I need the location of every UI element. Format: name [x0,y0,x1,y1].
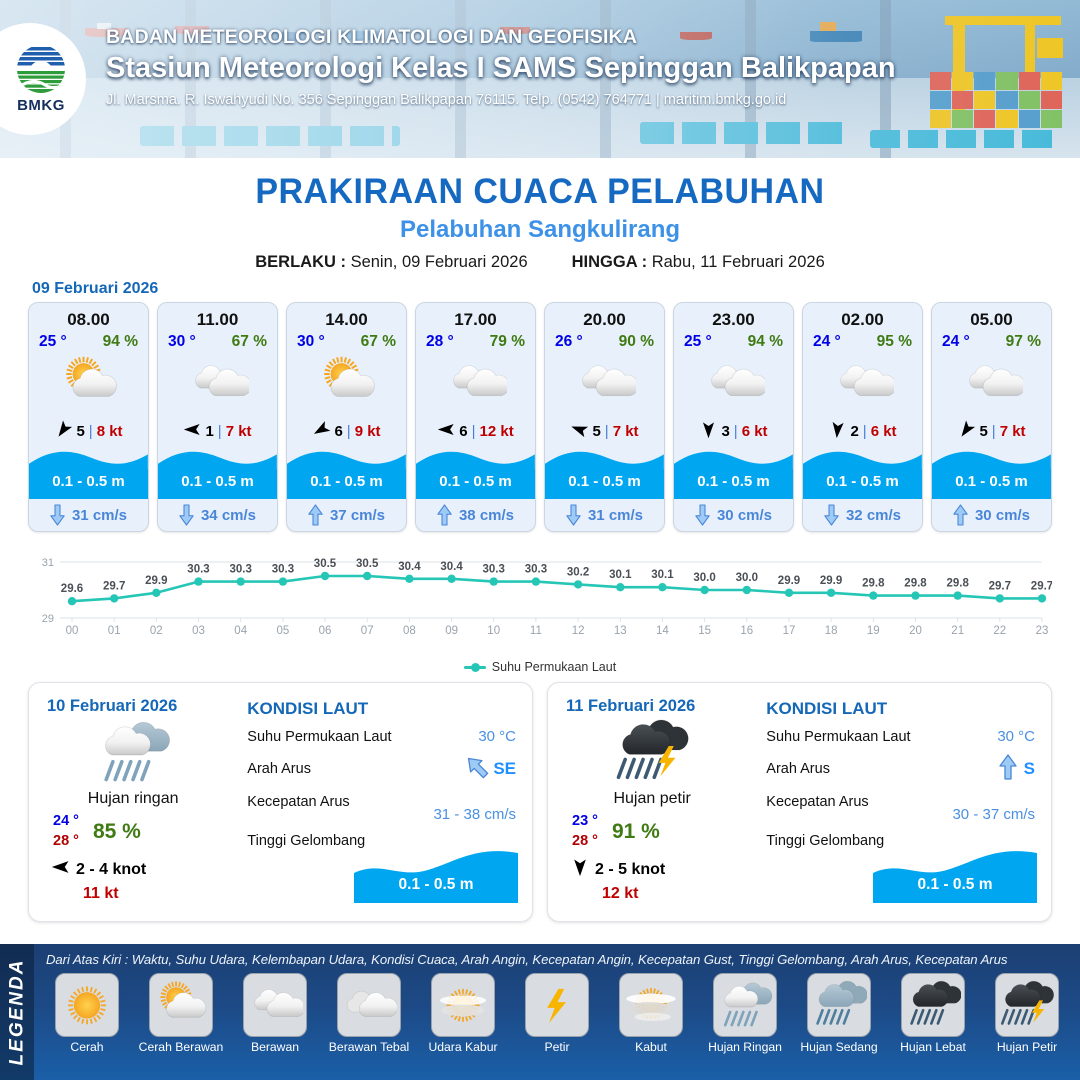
svg-text:21: 21 [951,625,964,637]
card-current-speed: 30 cm/s [975,507,1030,524]
card-current-speed: 37 cm/s [330,507,385,524]
panel-current-speed-label: Kecepatan Arus [766,794,868,810]
svg-text:29.8: 29.8 [862,578,885,590]
legend-icon-cerah-berawan [149,973,213,1037]
card-current: 30 cm/s [932,499,1051,531]
panel-wind-direction-arrow-icon [570,857,590,882]
panel-condition: Hujan petir [566,790,764,808]
panel-wind-range: 2 - 4 knot [76,861,146,879]
legend-bar: LEGENDA Dari Atas Kiri : Waktu, Suhu Uda… [0,944,1080,1080]
card-weather-icon-berawan [416,351,535,415]
legend-item: Udara Kabur [416,973,510,1054]
card-wave-height: 0.1 - 0.5 m [29,473,148,490]
card-wind: 3 | 6 kt [674,415,793,447]
card-wave-height: 0.1 - 0.5 m [932,473,1051,490]
legend-item-label: Cerah [70,1040,103,1054]
svg-text:19: 19 [867,625,880,637]
card-temperature: 25 ° [39,333,67,351]
legend-icon-hujan-sedang [807,973,871,1037]
card-humidity: 94 % [748,333,783,351]
legend-icon-hujan-petir [995,973,1059,1037]
legend-item-label: Hujan Petir [997,1040,1057,1054]
card-weather-icon-berawan [803,351,922,415]
card-temperature: 24 ° [942,333,970,351]
page-title: PRAKIRAAN CUACA PELABUHAN [16,172,1064,212]
legend-items: Cerah Cerah Berawan Berawan Berawan Teba… [40,973,1074,1054]
panel-current-dir-label: Arah Arus [766,761,830,777]
svg-text:11: 11 [530,625,542,637]
panel-temp-max: 28 ° [53,832,79,852]
panel-current-direction: S [998,754,1035,784]
card-humidity: 95 % [877,333,912,351]
legend-icon-berawan [243,973,307,1037]
panel-current-dir-value: S [1024,759,1035,779]
card-wind-direction-value: 5 [979,423,987,440]
svg-text:29: 29 [42,613,54,625]
forecast-day-label: 09 Februari 2026 [32,280,1080,298]
legend-side-title-text: LEGENDA [6,959,28,1066]
legend-item-label: Hujan Ringan [708,1040,782,1054]
current-direction-arrow-icon [50,504,65,526]
legend-item: Hujan Lebat [886,973,980,1054]
svg-text:30.3: 30.3 [230,564,252,576]
card-temperature: 30 ° [168,333,196,351]
svg-text:31: 31 [42,557,54,569]
panel-wave-value: 0.1 - 0.5 m [354,876,518,894]
svg-text:29.7: 29.7 [1031,580,1052,592]
wind-separator: | [734,423,738,440]
current-direction-arrow-icon [437,504,452,526]
svg-text:15: 15 [698,625,711,637]
card-wind-speed: 7 kt [1000,423,1026,440]
legend-item: Hujan Sedang [792,973,886,1054]
panel-current-direction: SE [467,754,516,784]
card-weather-icon-berawan [545,351,664,415]
chart-legend-label: Suhu Permukaan Laut [492,660,616,674]
wind-direction-arrow-icon [699,420,718,443]
legend-icon-hujan-ringan [713,973,777,1037]
card-wind-direction-value: 5 [76,423,84,440]
current-direction-arrow-icon [695,504,710,526]
card-humidity: 67 % [232,333,267,351]
legend-item: Berawan Tebal [322,973,416,1054]
hourly-card: 17.00 28 ° 79 % 6 | 12 kt 0.1 - 0.5 m 38… [415,302,536,532]
card-wave-height: 0.1 - 0.5 m [545,473,664,490]
panel-wave-value: 0.1 - 0.5 m [873,876,1037,894]
wind-direction-arrow-icon [957,420,976,443]
daily-forecast-panel: 10 Februari 2026 Hujan ringan 24 ° 28 ° … [28,682,533,922]
wind-direction-arrow-icon [54,420,73,443]
legend-item-label: Berawan Tebal [329,1040,409,1054]
card-time: 23.00 [674,303,793,330]
panel-current-speed-label: Kecepatan Arus [247,794,349,810]
card-wind: 1 | 7 kt [158,415,277,447]
daily-forecast-panels: 10 Februari 2026 Hujan ringan 24 ° 28 ° … [0,674,1080,922]
panel-gust: 12 kt [566,885,764,903]
wind-separator: | [347,423,351,440]
legend-item-label: Petir [544,1040,569,1054]
panel-temp-max: 28 ° [572,832,598,852]
hourly-card: 02.00 24 ° 95 % 2 | 6 kt 0.1 - 0.5 m 32 … [802,302,923,532]
wind-separator: | [472,423,476,440]
current-direction-arrow-icon [467,754,487,784]
svg-text:29.8: 29.8 [904,578,927,590]
daily-forecast-panel: 11 Februari 2026 Hujan petir 23 ° 28 ° 9… [547,682,1052,922]
panel-weather-icon-hujan-ringan [47,714,245,792]
legend-note: Dari Atas Kiri : Waktu, Suhu Udara, Kele… [40,952,1074,967]
svg-text:30.3: 30.3 [187,564,209,576]
card-temperature: 26 ° [555,333,583,351]
legend-item-label: Kabut [635,1040,667,1054]
card-wave: 0.1 - 0.5 m [158,447,277,499]
panel-gust: 11 kt [47,885,245,903]
hingga-label: HINGGA : [572,253,647,271]
legend-item-label: Udara Kabur [428,1040,497,1054]
svg-text:30.3: 30.3 [272,564,294,576]
legend-icon-kabut [619,973,683,1037]
card-weather-icon-berawan [158,351,277,415]
svg-text:13: 13 [614,625,627,637]
legend-icon-cerah [55,973,119,1037]
card-current: 30 cm/s [674,499,793,531]
legend-icon-petir [525,973,589,1037]
svg-text:10: 10 [487,625,500,637]
legend-item-label: Berawan [251,1040,299,1054]
card-current: 31 cm/s [29,499,148,531]
wind-separator: | [89,423,93,440]
card-time: 08.00 [29,303,148,330]
hourly-card: 05.00 24 ° 97 % 5 | 7 kt 0.1 - 0.5 m 30 … [931,302,1052,532]
svg-text:09: 09 [445,625,458,637]
svg-text:29.9: 29.9 [778,575,800,587]
card-time: 02.00 [803,303,922,330]
svg-text:29.9: 29.9 [820,575,842,587]
agency-name: BADAN METEOROLOGI KLIMATOLOGI DAN GEOFIS… [106,26,896,49]
legend-item: Kabut [604,973,698,1054]
card-time: 14.00 [287,303,406,330]
svg-text:01: 01 [108,625,121,637]
hourly-card: 20.00 26 ° 90 % 5 | 7 kt 0.1 - 0.5 m 31 … [544,302,665,532]
svg-text:30.5: 30.5 [356,558,379,570]
panel-temp-min: 23 ° [572,812,598,832]
sst-chart: 312929.60029.70129.90230.30330.30430.305… [28,544,1052,662]
card-humidity: 97 % [1006,333,1041,351]
svg-text:18: 18 [825,625,838,637]
panel-wave-box: 0.1 - 0.5 m [354,851,518,903]
card-wind-speed: 8 kt [97,423,123,440]
current-direction-arrow-icon [824,504,839,526]
card-current: 38 cm/s [416,499,535,531]
panel-temp-min: 24 ° [53,812,79,832]
svg-text:07: 07 [361,625,374,637]
legend-icon-berawan-tebal [337,973,401,1037]
card-temperature: 25 ° [684,333,712,351]
svg-text:00: 00 [66,625,79,637]
bmkg-logo-mark [15,45,67,95]
card-humidity: 90 % [619,333,654,351]
card-wave: 0.1 - 0.5 m [932,447,1051,499]
panel-condition: Hujan ringan [47,790,245,808]
svg-text:30.0: 30.0 [736,572,758,584]
legend-item: Hujan Ringan [698,973,792,1054]
svg-text:08: 08 [403,625,416,637]
panel-sst-value: 30 °C [478,728,516,745]
card-wind-direction-value: 5 [592,423,600,440]
card-wind: 5 | 8 kt [29,415,148,447]
card-wave: 0.1 - 0.5 m [29,447,148,499]
card-wind-direction-value: 6 [459,423,467,440]
svg-text:30.3: 30.3 [525,564,547,576]
panel-sst-value: 30 °C [997,728,1035,745]
svg-text:30.0: 30.0 [693,572,715,584]
card-humidity: 79 % [490,333,525,351]
svg-text:16: 16 [740,625,753,637]
card-time: 20.00 [545,303,664,330]
legend-item: Berawan [228,973,322,1054]
panel-wind-direction-arrow-icon [51,857,71,882]
hourly-card: 14.00 30 ° 67 % 6 | 9 kt 0.1 - 0.5 m 37 … [286,302,407,532]
current-direction-arrow-icon [998,754,1018,784]
hourly-card: 08.00 25 ° 94 % 5 | 8 kt 0.1 - 0.5 m 31 … [28,302,149,532]
svg-text:29.9: 29.9 [145,575,167,587]
current-direction-arrow-icon [953,504,968,526]
card-wave: 0.1 - 0.5 m [674,447,793,499]
current-direction-arrow-icon [308,504,323,526]
card-time: 11.00 [158,303,277,330]
svg-text:05: 05 [277,625,290,637]
panel-sea-title: KONDISI LAUT [247,699,516,719]
card-weather-icon-berawan [674,351,793,415]
validity-row: BERLAKU : Senin, 09 Februari 2026 HINGGA… [0,253,1080,272]
panel-humidity: 91 % [612,820,660,844]
card-wind-speed: 6 kt [742,423,768,440]
card-wind: 5 | 7 kt [545,415,664,447]
card-wind-direction-value: 1 [205,423,213,440]
current-direction-arrow-icon [179,504,194,526]
svg-text:17: 17 [783,625,796,637]
wind-direction-arrow-icon [312,420,331,443]
legend-icon-udara-kabur [431,973,495,1037]
title-block: PRAKIRAAN CUACA PELABUHAN Pelabuhan Sang… [0,158,1080,272]
card-time: 17.00 [416,303,535,330]
card-current-speed: 30 cm/s [717,507,772,524]
panel-wave-label: Tinggi Gelombang [766,833,884,849]
port-name: Pelabuhan Sangkulirang [0,216,1080,244]
card-humidity: 94 % [103,333,138,351]
card-wind: 6 | 12 kt [416,415,535,447]
hourly-card: 23.00 25 ° 94 % 3 | 6 kt 0.1 - 0.5 m 30 … [673,302,794,532]
svg-text:29.7: 29.7 [103,580,125,592]
panel-sst-label: Suhu Permukaan Laut [247,729,391,745]
card-wave-height: 0.1 - 0.5 m [803,473,922,490]
svg-text:22: 22 [993,625,1006,637]
panel-sea-title: KONDISI LAUT [766,699,1035,719]
svg-text:30.4: 30.4 [398,561,421,573]
hingga-group: HINGGA : Rabu, 11 Februari 2026 [572,253,825,272]
wind-separator: | [605,423,609,440]
card-wind: 5 | 7 kt [932,415,1051,447]
hourly-forecast-row: 08.00 25 ° 94 % 5 | 8 kt 0.1 - 0.5 m 31 … [0,302,1080,532]
card-weather-icon-cerah-berawan [287,351,406,415]
svg-text:23: 23 [1036,625,1049,637]
page-header: BMKG BADAN METEOROLOGI KLIMATOLOGI DAN G… [0,0,1080,158]
card-weather-icon-berawan [932,351,1051,415]
card-humidity: 67 % [361,333,396,351]
card-wave: 0.1 - 0.5 m [545,447,664,499]
card-current: 34 cm/s [158,499,277,531]
berlaku-label: BERLAKU : [255,253,346,271]
hingga-value: Rabu, 11 Februari 2026 [652,253,825,271]
panel-current-dir-value: SE [493,759,516,779]
card-current-speed: 38 cm/s [459,507,514,524]
svg-text:30.1: 30.1 [609,569,632,581]
card-current-speed: 31 cm/s [588,507,643,524]
legend-side-title: LEGENDA [0,944,34,1080]
svg-text:30.5: 30.5 [314,558,337,570]
panel-wave-label: Tinggi Gelombang [247,833,365,849]
card-wind-speed: 6 kt [871,423,897,440]
panel-wave-box: 0.1 - 0.5 m [873,851,1037,903]
card-current: 31 cm/s [545,499,664,531]
wind-direction-arrow-icon [828,420,847,443]
card-wave: 0.1 - 0.5 m [287,447,406,499]
svg-text:30.1: 30.1 [651,569,674,581]
card-wind: 6 | 9 kt [287,415,406,447]
legend-item: Petir [510,973,604,1054]
panel-weather-icon-hujan-petir [566,714,764,792]
card-wave: 0.1 - 0.5 m [416,447,535,499]
svg-text:20: 20 [909,625,922,637]
card-wind-speed: 9 kt [355,423,381,440]
berlaku-group: BERLAKU : Senin, 09 Februari 2026 [255,253,527,272]
card-current-speed: 32 cm/s [846,507,901,524]
svg-text:03: 03 [192,625,205,637]
card-current-speed: 31 cm/s [72,507,127,524]
legend-item: Cerah [40,973,134,1054]
panel-current-dir-label: Arah Arus [247,761,311,777]
card-current: 37 cm/s [287,499,406,531]
panel-wind-range: 2 - 5 knot [595,861,665,879]
card-current: 32 cm/s [803,499,922,531]
current-direction-arrow-icon [566,504,581,526]
svg-text:29.7: 29.7 [989,580,1011,592]
card-temperature: 28 ° [426,333,454,351]
svg-text:30.4: 30.4 [440,561,463,573]
card-wave: 0.1 - 0.5 m [803,447,922,499]
bmkg-logo-text: BMKG [17,97,65,114]
wind-direction-arrow-icon [183,420,202,443]
wind-direction-arrow-icon [437,420,456,443]
svg-text:04: 04 [234,625,247,637]
card-wind-direction-value: 2 [850,423,858,440]
card-wind-direction-value: 6 [334,423,342,440]
card-wind-speed: 12 kt [480,423,514,440]
card-wind: 2 | 6 kt [803,415,922,447]
wind-separator: | [992,423,996,440]
legend-item: Hujan Petir [980,973,1074,1054]
panel-humidity: 85 % [93,820,141,844]
wind-separator: | [218,423,222,440]
card-wave-height: 0.1 - 0.5 m [287,473,406,490]
svg-text:12: 12 [572,625,585,637]
card-time: 05.00 [932,303,1051,330]
wind-separator: | [863,423,867,440]
legend-icon-hujan-lebat [901,973,965,1037]
svg-text:14: 14 [656,625,669,637]
card-temperature: 30 ° [297,333,325,351]
card-temperature: 24 ° [813,333,841,351]
legend-item-label: Hujan Sedang [800,1040,877,1054]
card-weather-icon-cerah-berawan [29,351,148,415]
card-wind-speed: 7 kt [226,423,252,440]
card-wave-height: 0.1 - 0.5 m [158,473,277,490]
berlaku-value: Senin, 09 Februari 2026 [351,253,528,271]
station-address: Jl. Marsma. R. Iswahyudi No. 356 Sepingg… [106,92,896,108]
legend-item-label: Cerah Berawan [139,1040,224,1054]
legend-item: Cerah Berawan [134,973,228,1054]
hourly-card: 11.00 30 ° 67 % 1 | 7 kt 0.1 - 0.5 m 34 … [157,302,278,532]
svg-text:29.8: 29.8 [947,578,970,590]
svg-text:30.3: 30.3 [483,564,505,576]
svg-text:02: 02 [150,625,163,637]
station-name: Stasiun Meteorologi Kelas I SAMS Sepingg… [106,52,896,85]
card-wave-height: 0.1 - 0.5 m [416,473,535,490]
card-wave-height: 0.1 - 0.5 m [674,473,793,490]
card-wind-speed: 7 kt [613,423,639,440]
panel-sst-label: Suhu Permukaan Laut [766,729,910,745]
svg-text:30.2: 30.2 [567,566,589,578]
card-current-speed: 34 cm/s [201,507,256,524]
svg-text:29.6: 29.6 [61,583,83,595]
svg-text:06: 06 [319,625,332,637]
chart-legend-marker-icon [464,666,486,669]
chart-legend: Suhu Permukaan Laut [0,660,1080,674]
card-wind-direction-value: 3 [721,423,729,440]
wind-direction-arrow-icon [570,420,589,443]
legend-item-label: Hujan Lebat [900,1040,966,1054]
